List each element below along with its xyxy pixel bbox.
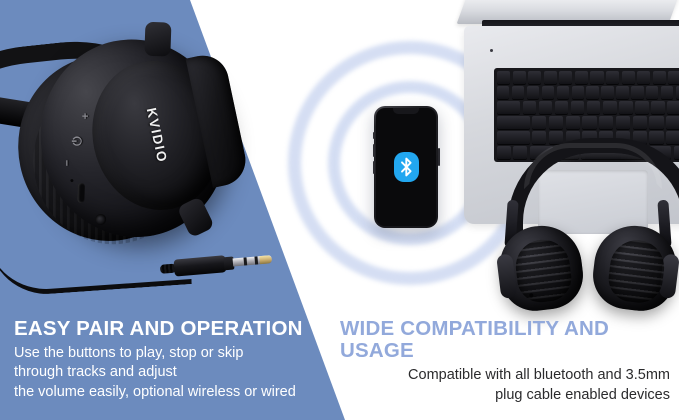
right-body-line: Compatible with all bluetooth and 3.5mm bbox=[340, 366, 670, 385]
key bbox=[668, 71, 679, 84]
key bbox=[557, 86, 569, 99]
keyboard-row bbox=[497, 101, 679, 114]
key bbox=[555, 101, 569, 114]
left-body-line: the volume easily, optional wireless or … bbox=[14, 383, 314, 402]
key bbox=[651, 101, 665, 114]
key-capslock bbox=[497, 116, 530, 129]
key bbox=[532, 116, 546, 129]
key bbox=[619, 101, 633, 114]
key bbox=[590, 71, 603, 84]
key bbox=[571, 101, 585, 114]
ear-pad-right bbox=[606, 237, 667, 305]
key bbox=[587, 101, 601, 114]
keyboard-row bbox=[497, 86, 679, 99]
power-play-button[interactable]: ⏻ bbox=[71, 136, 83, 145]
volume-down-button[interactable]: − bbox=[62, 160, 73, 166]
key bbox=[497, 86, 509, 99]
key bbox=[616, 116, 630, 129]
laptop-camera bbox=[490, 49, 493, 52]
right-heading: WIDE COMPATIBILITY AND USAGE bbox=[340, 318, 670, 361]
smartphone bbox=[374, 106, 438, 228]
left-body-line: through tracks and adjust bbox=[14, 363, 314, 382]
key bbox=[667, 101, 679, 114]
jack-insulator-ring bbox=[254, 256, 258, 264]
phone-power-button bbox=[438, 148, 440, 166]
key bbox=[649, 116, 663, 129]
right-text-block: WIDE COMPATIBILITY AND USAGE Compatible … bbox=[340, 318, 670, 405]
right-body-line: plug cable enabled devices bbox=[340, 386, 670, 405]
ear-pad-left bbox=[513, 237, 574, 305]
key bbox=[527, 86, 539, 99]
phone-volume-up-button bbox=[373, 144, 375, 157]
left-text-block: EASY PAIR AND OPERATION Use the buttons … bbox=[14, 318, 314, 402]
key bbox=[572, 86, 584, 99]
key bbox=[666, 116, 679, 129]
key bbox=[586, 86, 598, 99]
key bbox=[513, 71, 526, 84]
key bbox=[559, 71, 572, 84]
key bbox=[523, 101, 537, 114]
key bbox=[575, 71, 588, 84]
phone-notch bbox=[393, 108, 419, 114]
key bbox=[549, 116, 563, 129]
bluetooth-icon bbox=[394, 152, 419, 182]
key bbox=[635, 101, 649, 114]
key bbox=[603, 101, 617, 114]
usb-charging-port bbox=[77, 183, 85, 203]
brand-logo-text: KVIDIO bbox=[144, 106, 170, 164]
key bbox=[544, 71, 557, 84]
key bbox=[606, 71, 619, 84]
key bbox=[616, 86, 628, 99]
key bbox=[566, 116, 580, 129]
phone-screen bbox=[376, 108, 436, 226]
key bbox=[539, 101, 553, 114]
earcup-side-plate bbox=[496, 253, 517, 299]
key bbox=[631, 86, 643, 99]
key bbox=[661, 86, 673, 99]
right-body-text: Compatible with all bluetooth and 3.5mm … bbox=[340, 366, 670, 405]
key bbox=[646, 86, 658, 99]
headphones-front-view-image bbox=[494, 138, 679, 310]
jack-insulator-ring bbox=[244, 257, 248, 265]
volume-up-button[interactable]: + bbox=[81, 113, 92, 119]
key bbox=[622, 71, 635, 84]
phone-volume-down-button bbox=[373, 161, 375, 174]
headband-highlight bbox=[524, 143, 662, 189]
left-body-text: Use the buttons to play, stop or skip th… bbox=[14, 344, 314, 402]
left-body-line: Use the buttons to play, stop or skip bbox=[14, 344, 314, 363]
product-feature-poster: KVIDIO − ⏻ + bbox=[0, 0, 679, 420]
keyboard-row bbox=[497, 71, 679, 84]
key bbox=[512, 86, 524, 99]
key bbox=[601, 86, 613, 99]
key bbox=[637, 71, 650, 84]
key bbox=[633, 116, 647, 129]
key bbox=[528, 71, 541, 84]
key bbox=[653, 71, 666, 84]
key bbox=[497, 71, 510, 84]
key-tab bbox=[497, 101, 520, 114]
key bbox=[582, 116, 596, 129]
left-heading: EASY PAIR AND OPERATION bbox=[14, 318, 314, 340]
keyboard-row bbox=[497, 116, 679, 129]
yoke-tab-top bbox=[144, 22, 171, 57]
phone-silent-switch bbox=[373, 132, 375, 139]
key bbox=[542, 86, 554, 99]
key bbox=[599, 116, 613, 129]
